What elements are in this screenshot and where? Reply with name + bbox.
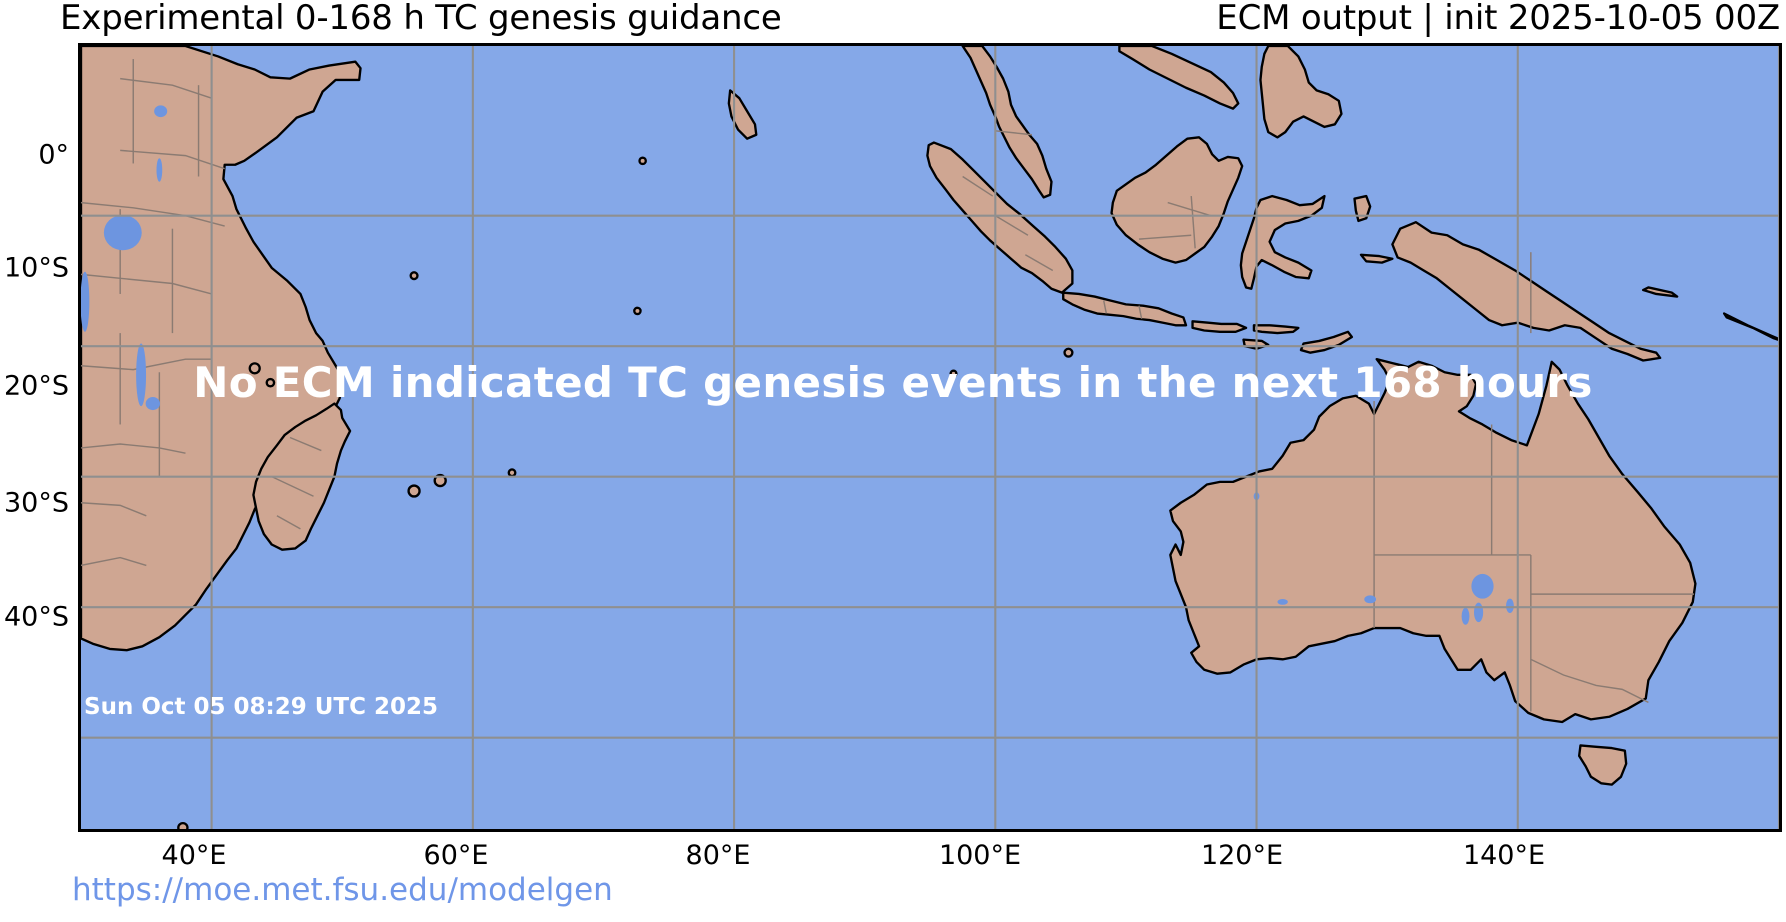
chagos-island	[634, 308, 640, 314]
cocos-island	[951, 371, 957, 377]
rodrigues-island	[509, 469, 516, 476]
prince-edward-island	[178, 823, 187, 829]
reunion-island	[409, 486, 420, 497]
page-header: Experimental 0-168 h TC genesis guidance…	[0, 0, 1786, 43]
x-tick-100e: 100°E	[939, 840, 1021, 871]
y-tick-0: 0°	[38, 140, 69, 171]
map-canvas	[81, 46, 1779, 829]
source-url-link[interactable]: https://moe.met.fsu.edu/modelgen	[72, 872, 613, 908]
christmas-island	[1065, 349, 1073, 357]
lake-frome	[1506, 599, 1514, 613]
lake-carnegie	[1364, 595, 1376, 603]
x-tick-60e: 60°E	[424, 840, 489, 871]
flores-landmass	[1254, 325, 1298, 333]
x-tick-80e: 80°E	[686, 840, 751, 871]
lake-victoria	[104, 215, 142, 250]
lake-malawi	[136, 344, 146, 407]
map-panel[interactable]: Sun Oct 05 08:29 UTC 2025	[78, 43, 1782, 832]
y-tick-30s: 30°S	[4, 488, 69, 519]
maldives-island	[640, 158, 646, 164]
lake-barlee	[1277, 599, 1287, 605]
lake-turkana	[156, 158, 162, 181]
lake-tana	[154, 105, 167, 117]
lake-gairdner	[1462, 608, 1470, 625]
lake-chilwa	[146, 397, 160, 410]
x-tick-140e: 140°E	[1463, 840, 1545, 871]
y-tick-40s: 40°S	[4, 602, 69, 633]
seychelles-island	[411, 272, 418, 279]
lake-eyre	[1471, 574, 1493, 599]
x-tick-40e: 40°E	[162, 840, 227, 871]
page-title: Experimental 0-168 h TC genesis guidance	[60, 0, 782, 38]
y-tick-10s: 10°S	[4, 253, 69, 284]
lake-torrens	[1474, 603, 1483, 623]
mayotte-island	[267, 379, 274, 386]
x-tick-120e: 120°E	[1201, 840, 1283, 871]
halmahera-landmass	[1355, 196, 1371, 221]
y-tick-20s: 20°S	[4, 371, 69, 402]
tc-genesis-guidance-page: Experimental 0-168 h TC genesis guidance…	[0, 0, 1786, 922]
comoros-island	[250, 363, 260, 373]
model-init-label: ECM output | init 2025-10-05 00Z	[1216, 0, 1780, 38]
